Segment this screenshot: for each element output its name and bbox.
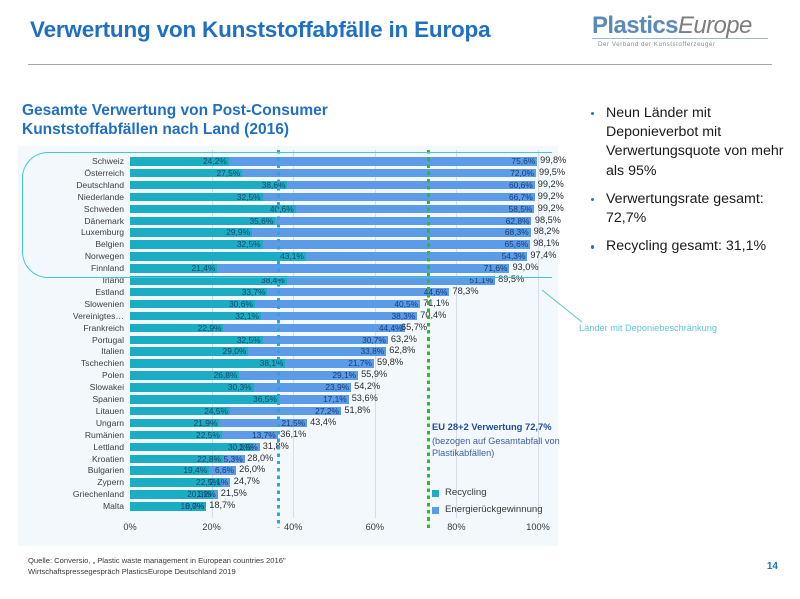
value-label-energy-recovery: 30,7% — [354, 335, 386, 346]
key-finding-item: Verwertungsrate gesamt: 72,7% — [588, 190, 794, 228]
value-label-energy-recovery: 40,5% — [386, 299, 418, 310]
value-label-total: 21,5% — [221, 488, 247, 499]
bar-row: 22,9%44,4%65,7% — [18, 323, 558, 335]
value-label-total: 65,7% — [401, 322, 427, 333]
value-label-recycling: 30,6% — [221, 299, 253, 310]
source-note: Quelle: Conversio, „ Plastic waste manag… — [28, 556, 548, 577]
bar-row: 36,5%17,1%53,6% — [18, 394, 558, 406]
logo-divider — [592, 38, 768, 39]
value-label-recycling: 32,5% — [229, 335, 261, 346]
landfill-restriction-annotation: Länder mit Deponiebeschränkung — [578, 322, 718, 334]
value-label-energy-recovery: 21,7% — [340, 358, 372, 369]
key-finding-item: Neun Länder mit Deponieverbot mit Verwer… — [588, 104, 794, 181]
x-axis-tick: 0% — [105, 522, 155, 532]
bar-row: 30,6%40,5%71,1% — [18, 299, 558, 311]
value-label-energy-recovery: 17,1% — [315, 394, 347, 405]
value-label-energy-recovery: 13,7% — [244, 430, 276, 441]
slide-header: Verwertung von Kunststoffabfälle in Euro… — [0, 0, 800, 72]
value-label-total: 24,7% — [234, 476, 260, 487]
eu-average-note-head: EU 28+2 Verwertung 72,7% — [432, 421, 592, 434]
value-label-total: 43,4% — [310, 417, 336, 428]
plastics-europe-logo: PlasticsEurope Der Verband der Kunststof… — [592, 10, 777, 56]
chart-title: Gesamte Verwertung von Post-Consumer Kun… — [22, 101, 452, 139]
x-axis-tick: 60% — [350, 522, 400, 532]
value-label-recycling: 22,9% — [189, 323, 221, 334]
value-label-total: 53,6% — [352, 393, 378, 404]
bar-row: 19,4%6,6%26,0% — [18, 465, 558, 477]
x-axis-tick: 80% — [431, 522, 481, 532]
value-label-total: 51,8% — [344, 405, 370, 416]
value-label-energy-recovery: 0,0% — [172, 501, 204, 512]
legend-label: Energierückgewinnung — [445, 504, 543, 515]
x-axis-tick: 40% — [268, 522, 318, 532]
x-axis-tick: 20% — [187, 522, 237, 532]
key-finding-item: Recycling gesamt: 31,1% — [588, 237, 794, 256]
bar-row: 26,8%29,1%55,9% — [18, 370, 558, 382]
value-label-energy-recovery: 2,1% — [196, 477, 228, 488]
value-label-total: 59,8% — [377, 357, 403, 368]
value-label-energy-recovery: 29,1% — [324, 370, 356, 381]
chart-legend: RecyclingEnergierückgewinnung — [432, 484, 612, 518]
value-label-energy-recovery: 1,2% — [184, 489, 216, 500]
value-label-energy-recovery: 33,8% — [352, 346, 384, 357]
legend-swatch — [432, 507, 439, 514]
logo-wordmark: PlasticsEurope — [592, 12, 752, 40]
value-label-energy-recovery: 44,4% — [371, 323, 403, 334]
value-label-energy-recovery: 5,3% — [211, 454, 243, 465]
value-label-energy-recovery: 6,6% — [202, 465, 234, 476]
landfill-ban-callout-box — [22, 152, 552, 278]
value-label-energy-recovery: 44,6% — [415, 287, 447, 298]
value-label-total: 78,3% — [452, 286, 478, 297]
value-label-recycling: 26,8% — [205, 370, 237, 381]
eu-average-note-body: (bezogen auf Gesamtabfall von Plastikabf… — [432, 436, 560, 459]
header-divider — [28, 64, 772, 65]
value-label-total: 63,2% — [391, 334, 417, 345]
page-title: Verwertung von Kunststoffabfälle in Euro… — [30, 17, 490, 43]
value-label-total: 28,0% — [247, 453, 273, 464]
value-label-total: 70,4% — [420, 310, 446, 321]
bar-row: 24,5%27,2%51,8% — [18, 406, 558, 418]
bar-row: 32,1%38,3%70,4% — [18, 311, 558, 323]
bar-row: 38,1%21,7%59,8% — [18, 358, 558, 370]
value-label-recycling: 30,3% — [220, 382, 252, 393]
value-label-total: 55,9% — [361, 369, 387, 380]
logo-europe: Europe — [678, 12, 752, 39]
value-label-recycling: 22,5% — [188, 430, 220, 441]
value-label-total: 31,8% — [263, 441, 289, 452]
value-label-total: 62,8% — [389, 345, 415, 356]
value-label-energy-recovery: 23,9% — [317, 382, 349, 393]
value-label-recycling: 32,1% — [227, 311, 259, 322]
legend-item: Energierückgewinnung — [432, 501, 612, 518]
legend-swatch — [432, 490, 439, 497]
value-label-total: 54,2% — [354, 381, 380, 392]
value-label-recycling: 24,5% — [196, 406, 228, 417]
value-label-energy-recovery: 1,5% — [226, 442, 258, 453]
bar-row: 33,7%44,6%78,3% — [18, 287, 558, 299]
logo-tagline: Der Verband der Kunststofferzeuger — [598, 41, 716, 48]
legend-item: Recycling — [432, 484, 612, 501]
value-label-recycling: 36,5% — [245, 394, 277, 405]
value-label-recycling: 21,9% — [185, 418, 217, 429]
value-label-energy-recovery: 38,3% — [383, 311, 415, 322]
bar-row: 32,5%30,7%63,2% — [18, 335, 558, 347]
bar-row: 30,3%23,9%54,2% — [18, 382, 558, 394]
value-label-energy-recovery: 27,2% — [307, 406, 339, 417]
value-label-recycling: 33,7% — [233, 287, 265, 298]
x-axis-tick: 100% — [513, 522, 563, 532]
logo-plastics: Plastics — [592, 12, 678, 39]
value-label-total: 18,7% — [209, 500, 235, 511]
source-line-2: Wirtschaftspressegespräch PlasticsEurope… — [28, 567, 548, 578]
eu-average-note: EU 28+2 Verwertung 72,7% (bezogen auf Ge… — [432, 421, 592, 460]
source-line-1: Quelle: Conversio, „ Plastic waste manag… — [28, 556, 548, 567]
restriction-leader-line — [540, 288, 600, 324]
value-label-recycling: 29,0% — [214, 346, 246, 357]
value-label-total: 26,0% — [239, 464, 265, 475]
bar-row: 29,0%33,8%62,8% — [18, 346, 558, 358]
key-findings-list: Neun Länder mit Deponieverbot mit Verwer… — [588, 104, 794, 265]
value-label-total: 36,1% — [280, 429, 306, 440]
legend-label: Recycling — [445, 487, 487, 498]
page-number: 14 — [767, 561, 778, 572]
